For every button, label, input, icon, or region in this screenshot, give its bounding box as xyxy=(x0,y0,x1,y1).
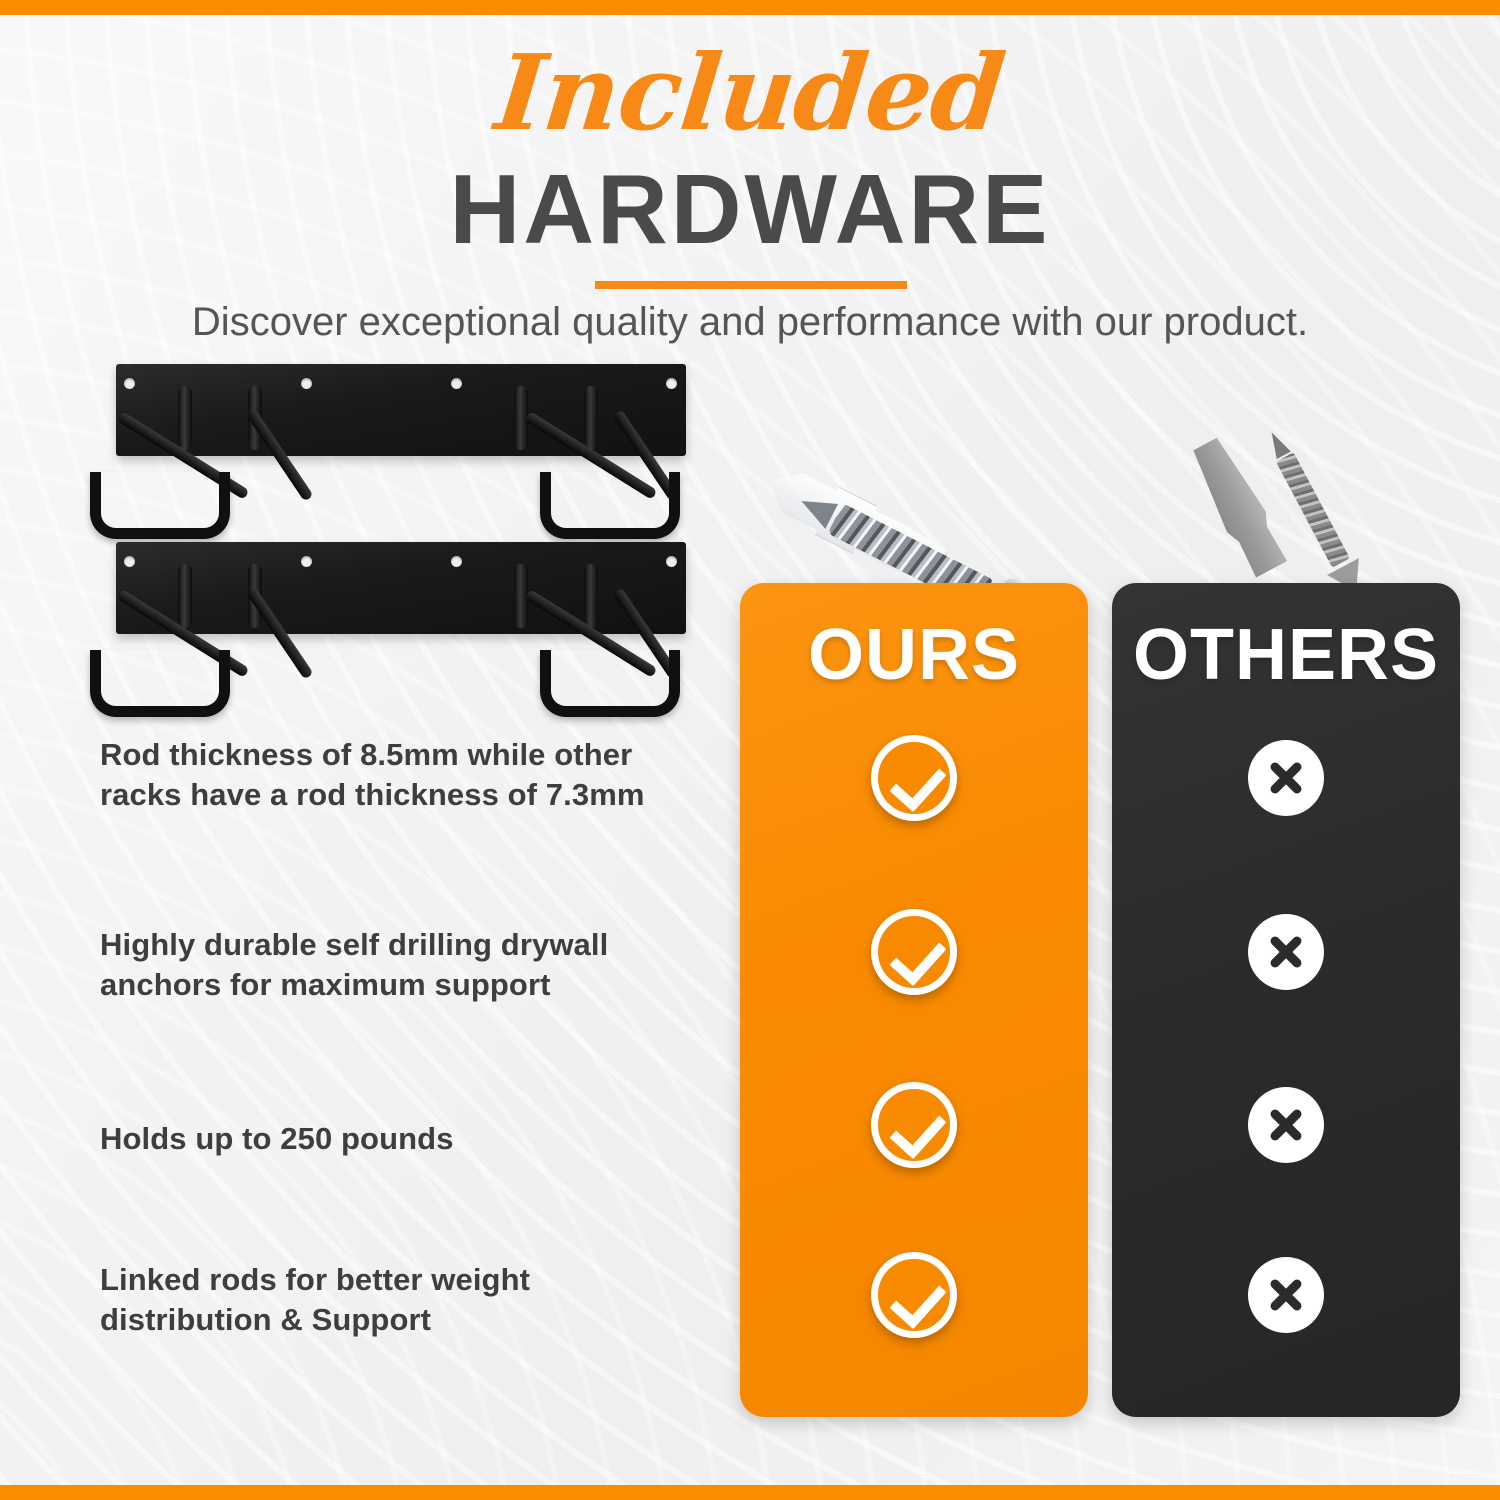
storage-rack-top xyxy=(96,364,696,536)
script-heading: Included xyxy=(0,38,1500,147)
x-circle-icon xyxy=(1243,909,1329,995)
others-mark-list xyxy=(1112,583,1460,1417)
drywall-anchor-photo xyxy=(765,432,1065,592)
check-circle-icon xyxy=(871,735,957,821)
feature-item: Highly durable self drilling drywall anc… xyxy=(100,925,710,1006)
rack-hook-bend xyxy=(540,472,680,539)
mounting-hole xyxy=(124,556,135,567)
infographic-canvas: Included HARDWARE Discover exceptional q… xyxy=(0,0,1500,1500)
wood-screw-icon xyxy=(1263,441,1373,601)
storage-rack-bottom xyxy=(96,542,696,714)
rack-hook-bend xyxy=(90,472,230,539)
feature-item: Linked rods for better weight distributi… xyxy=(100,1260,660,1341)
comparison-panel-ours: OURS xyxy=(740,583,1088,1417)
x-circle-icon xyxy=(1243,1082,1329,1168)
check-circle-icon xyxy=(871,909,957,995)
page-title: HARDWARE xyxy=(0,160,1500,258)
x-circle-icon xyxy=(1243,1252,1329,1338)
wall-plug-photo xyxy=(1195,408,1455,593)
comparison-panel-others: OTHERS xyxy=(1112,583,1460,1417)
mounting-hole xyxy=(451,378,462,389)
product-photo xyxy=(96,360,716,718)
top-accent-bar xyxy=(0,0,1500,15)
rack-rod xyxy=(584,564,598,628)
bottom-accent-bar xyxy=(0,1485,1500,1500)
rack-mounting-plate xyxy=(116,542,686,634)
check-circle-icon xyxy=(871,1252,957,1338)
screw-shank xyxy=(1276,452,1350,567)
rack-mounting-plate xyxy=(116,364,686,456)
title-underline-rule xyxy=(595,281,907,289)
mounting-hole xyxy=(124,378,135,389)
mounting-hole xyxy=(301,378,312,389)
mounting-hole xyxy=(666,378,677,389)
x-circle-icon xyxy=(1243,735,1329,821)
rack-hook-bend xyxy=(90,650,230,717)
feature-item: Holds up to 250 pounds xyxy=(100,1119,700,1159)
mounting-hole xyxy=(451,556,462,567)
ours-mark-list xyxy=(740,583,1088,1417)
rack-rod xyxy=(178,386,192,450)
mounting-hole xyxy=(666,556,677,567)
rack-rod xyxy=(178,564,192,628)
rack-rod xyxy=(584,386,598,450)
check-circle-icon xyxy=(871,1082,957,1168)
page-subtitle: Discover exceptional quality and perform… xyxy=(0,300,1500,345)
rack-hook-bend xyxy=(540,650,680,717)
mounting-hole xyxy=(301,556,312,567)
feature-item: Rod thickness of 8.5mm while other racks… xyxy=(100,735,700,816)
